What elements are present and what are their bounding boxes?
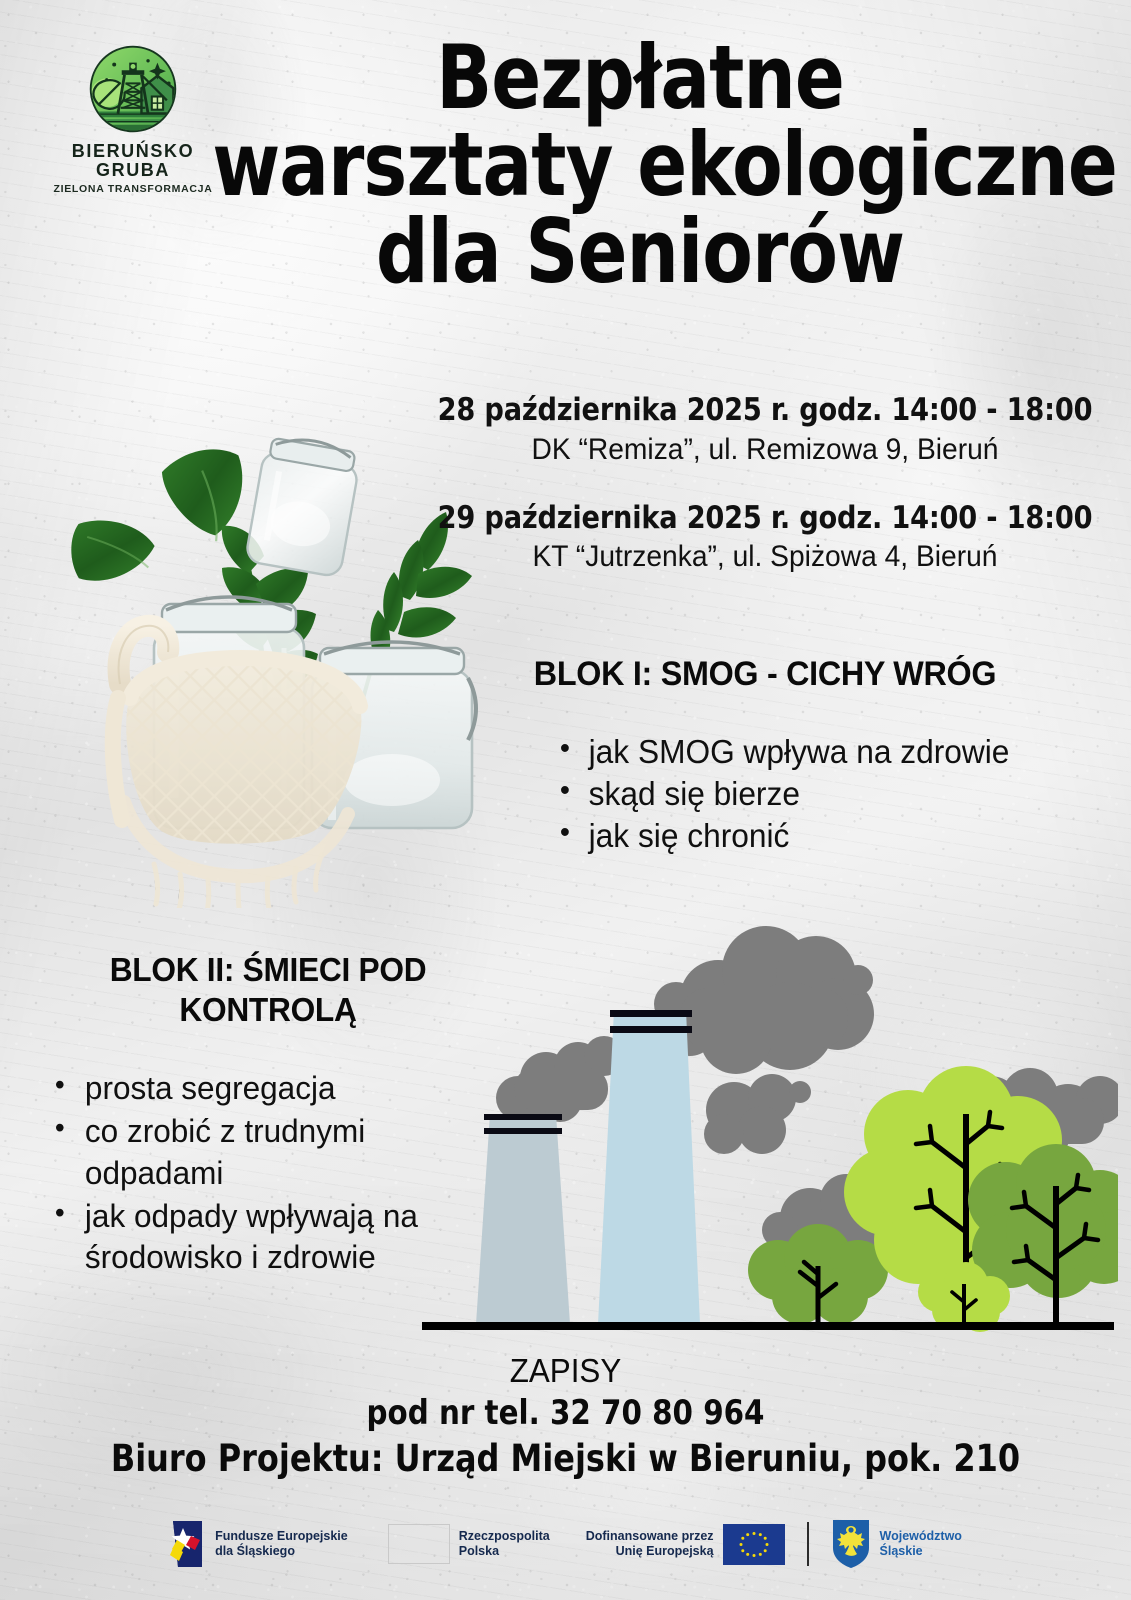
signup-office-line: Biuro Projektu: Urząd Miejski w Bieruniu… xyxy=(61,1437,1070,1481)
list-item: jak SMOG wpływa na zdrowie xyxy=(556,731,1094,773)
brand-logo: BIERUŃSKO GRUBA ZIELONA TRANSFORMACJA xyxy=(50,42,216,195)
blok-1-title: BLOK I: SMOG - CICHY WRÓG xyxy=(437,655,1093,694)
jar-small-flying xyxy=(245,435,359,578)
logo-tagline: ZIELONA TRANSFORMACJA xyxy=(50,183,216,195)
signup-block: ZAPISY pod nr tel. 32 70 80 964 Biuro Pr… xyxy=(40,1352,1091,1481)
logo-line-1: BIERUŃSKO xyxy=(50,142,216,161)
wojewodztwo-slaskie-herb-icon xyxy=(831,1518,871,1570)
eu-flag-icon xyxy=(723,1524,785,1565)
footer-caption: Rzeczpospolita Polska xyxy=(459,1529,550,1560)
title-line-1: Bezpłatne xyxy=(212,34,1068,121)
footer-logo-strip: Fundusze Europejskie dla Śląskiego Rzecz… xyxy=(0,1498,1131,1590)
leaf-group xyxy=(68,445,250,587)
schedule-spacer xyxy=(420,468,1110,500)
title-line-3: dla Seniorów xyxy=(212,208,1068,295)
mining-headframe-leaf-house-circle-icon xyxy=(86,42,180,136)
factory-chimneys-trees-icon xyxy=(418,918,1118,1338)
chimney-left xyxy=(476,1114,570,1324)
fundusze-europejskie-flag-icon xyxy=(169,1518,206,1570)
footer-logo-poland: Rzeczpospolita Polska xyxy=(388,1524,550,1564)
event-2-venue: KT “Jutrzenka”, ul. Spiżowa 4, Bieruń xyxy=(441,539,1090,575)
footer-caption: Fundusze Europejskie dla Śląskiego xyxy=(215,1529,348,1560)
poster-root: BIERUŃSKO GRUBA ZIELONA TRANSFORMACJA Be… xyxy=(0,0,1131,1600)
event-1-date: 28 października 2025 r. godz. 14:00 - 18… xyxy=(434,392,1096,429)
event-schedule: 28 października 2025 r. godz. 14:00 - 18… xyxy=(420,392,1110,575)
blok-1-list: jak SMOG wpływa na zdrowie skąd się bier… xyxy=(556,731,1116,858)
signup-phone-line: pod nr tel. 32 70 80 964 xyxy=(61,1393,1070,1434)
ground-line xyxy=(422,1322,1114,1330)
event-2-date: 29 października 2025 r. godz. 14:00 - 18… xyxy=(434,500,1096,537)
factory-illustration xyxy=(418,918,1118,1338)
footer-logo-slaskie: Województwo Śląskie xyxy=(831,1518,962,1570)
list-item: jak się chronić xyxy=(556,815,1094,857)
blok-2-title: BLOK II: ŚMIECI POD KONTROLĄ xyxy=(57,950,479,1029)
footer-caption: Dofinansowane przez Unię Europejską xyxy=(586,1529,714,1560)
list-item: skąd się bierze xyxy=(556,773,1094,815)
title-line-2: warsztaty ekologiczne xyxy=(212,121,1068,208)
poland-flag-icon xyxy=(388,1524,450,1564)
event-1-venue: DK “Remiza”, ul. Remizowa 9, Bieruń xyxy=(441,432,1090,468)
footer-logo-fundusze-europejskie: Fundusze Europejskie dla Śląskiego xyxy=(169,1518,348,1570)
signup-heading: ZAPISY xyxy=(66,1352,1064,1391)
page-title: Bezpłatne warsztaty ekologiczne dla Seni… xyxy=(212,34,1068,295)
chimney-right xyxy=(598,1010,700,1324)
footer-caption: Województwo Śląskie xyxy=(880,1529,962,1560)
logo-line-2: GRUBA xyxy=(50,161,216,180)
footer-divider xyxy=(807,1522,809,1566)
smoke-cloud-mid xyxy=(704,1074,811,1154)
footer-logo-eu: Dofinansowane przez Unię Europejską xyxy=(586,1524,785,1565)
